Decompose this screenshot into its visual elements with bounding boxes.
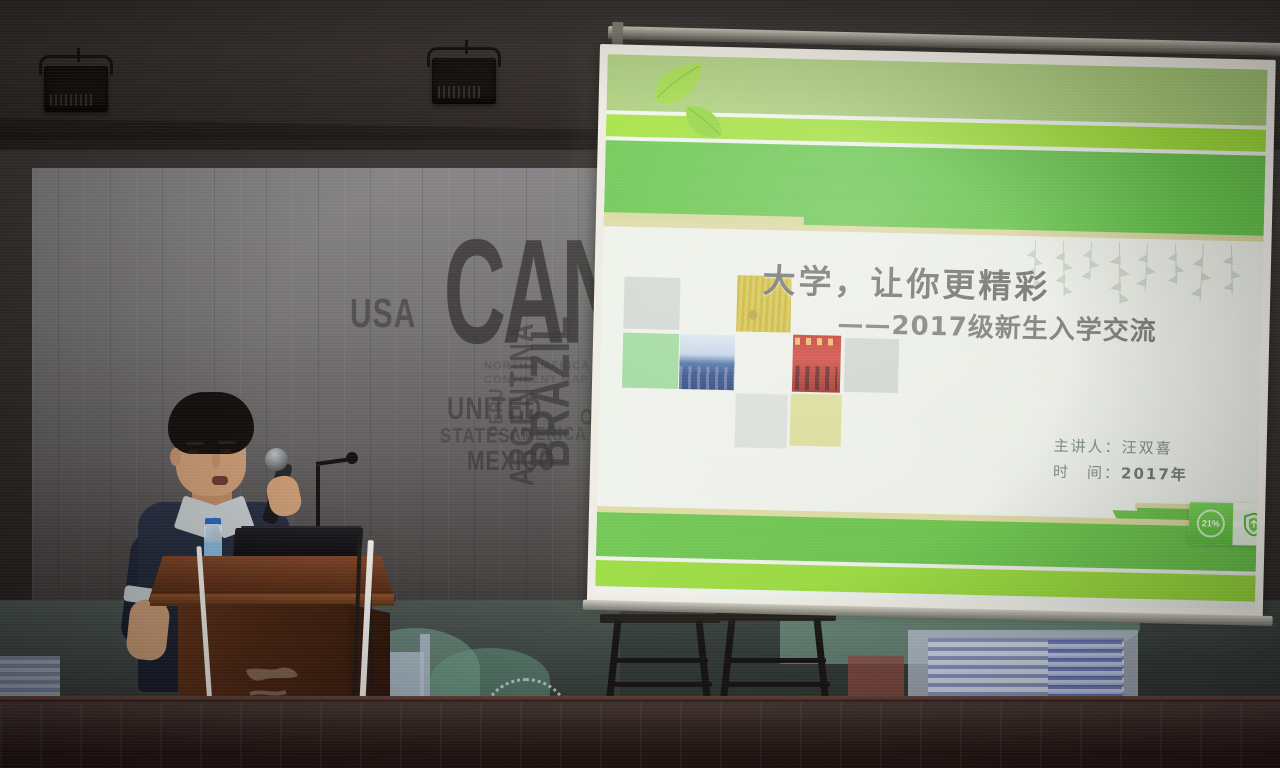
collage-tile-lgray xyxy=(735,393,788,448)
leaf-icon xyxy=(653,61,704,106)
collage-photo-lecture-hall xyxy=(679,334,735,390)
presenter-eye xyxy=(220,449,231,453)
collage-tile-green xyxy=(622,333,679,389)
slide-meta-time: 时 间：2017年 xyxy=(1053,459,1264,490)
presenter-brow xyxy=(186,442,204,445)
mic-stand-head xyxy=(346,452,358,464)
collage-tile-gray xyxy=(623,277,680,330)
stool xyxy=(716,612,836,706)
slide-meta-time-value: 2017年 xyxy=(1121,464,1188,484)
widget-percent: 21% xyxy=(1197,509,1226,538)
lecture-hall-scene: USA CANADA GRE LA UNITED OF STATES AMERI… xyxy=(0,0,1280,768)
presenter-mouth xyxy=(212,476,228,485)
presenter-hair xyxy=(168,392,254,454)
slide-meta-time-label: 时 间： xyxy=(1053,463,1121,483)
leaf-icon xyxy=(684,104,725,141)
widget-progress[interactable]: 21% xyxy=(1188,502,1233,545)
collage-tile-yellow xyxy=(790,394,842,447)
stage-light-icon xyxy=(44,66,108,112)
presenter-nose xyxy=(212,454,220,468)
slide-surface: 大学，让你更精彩 ——2017级新生入学交流 主讲人：汪双喜 时 间：2017年 xyxy=(595,54,1268,609)
security-shield-widget[interactable]: 21% xyxy=(1188,502,1267,546)
slide-meta-speaker-label: 主讲人： xyxy=(1053,437,1121,457)
mural-campus-wing xyxy=(1048,640,1122,698)
laptop xyxy=(233,528,364,560)
collage-tile-gray xyxy=(844,338,899,393)
stage-floor xyxy=(0,700,1280,768)
stool xyxy=(600,614,720,706)
presenter-ear xyxy=(170,448,181,466)
water-bottle-label xyxy=(204,542,222,556)
stage-light-icon xyxy=(432,58,496,104)
collage-photo-red-banner xyxy=(792,335,841,393)
projection-screen: 大学，让你更精彩 ——2017级新生入学交流 主讲人：汪双喜 时 间：2017年 xyxy=(587,44,1280,632)
slide-meta-speaker-name: 汪双喜 xyxy=(1121,438,1172,457)
slide-meta: 主讲人：汪双喜 时 间：2017年 xyxy=(1053,433,1264,490)
presenter-brow xyxy=(218,441,236,444)
presenter-eye xyxy=(188,450,199,454)
